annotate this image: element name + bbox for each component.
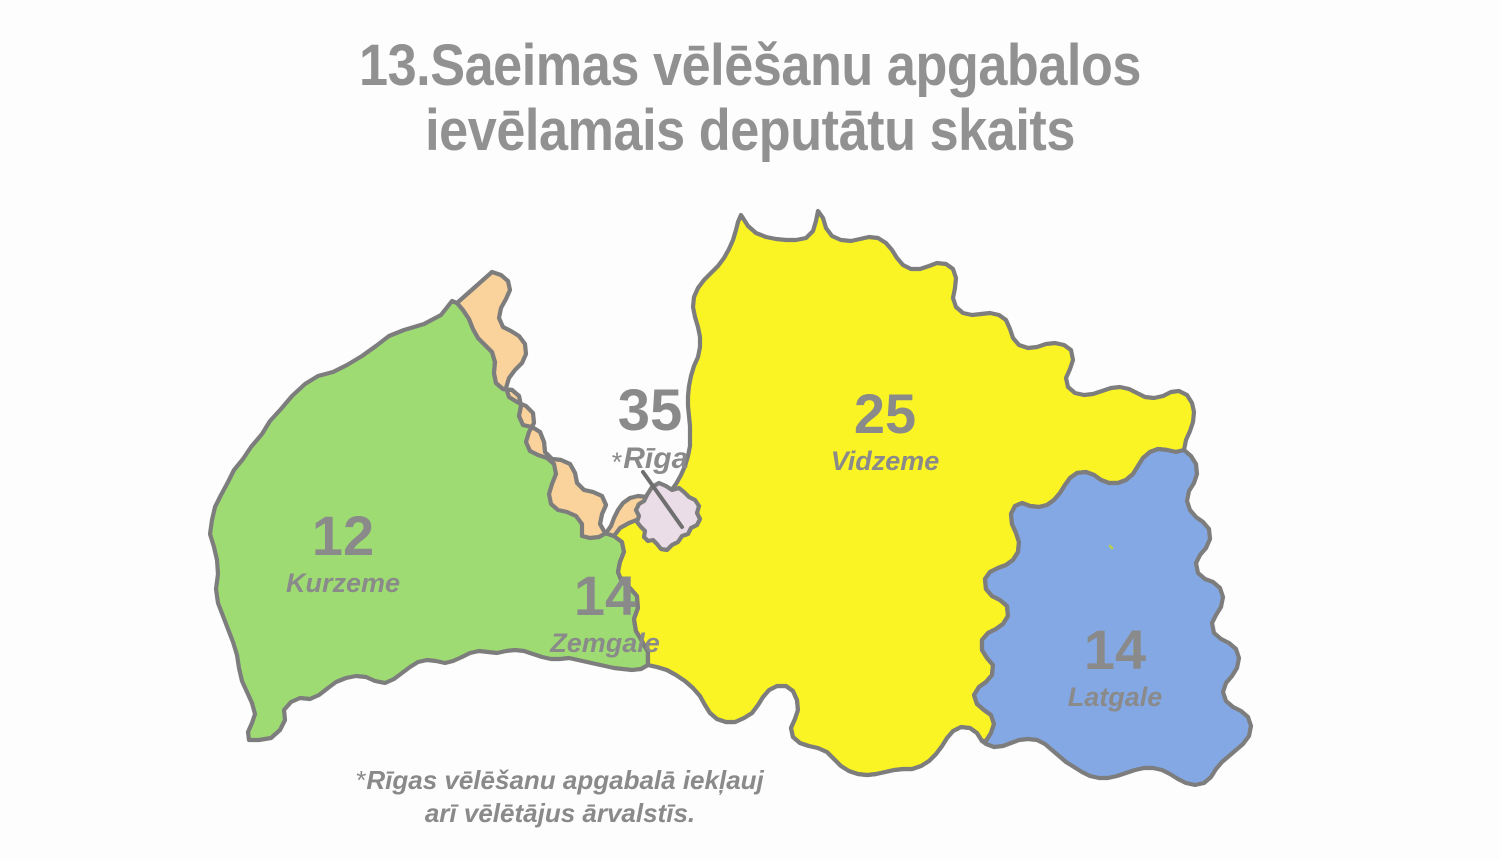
latvia-map-container: 35 Rīga 25 Vidzeme 12 Kurzeme 14 Zemgale… bbox=[0, 0, 1500, 860]
map-label-latgale: 14 Latgale bbox=[1000, 622, 1230, 711]
footnote: Rīgas vēlēšanu apgabalā iekļauj arī vēlē… bbox=[250, 764, 870, 829]
map-label-kurzeme: 12 Kurzeme bbox=[238, 508, 448, 597]
map-label-zemgale: 14 Zemgale bbox=[480, 568, 730, 657]
latgale-small-mark bbox=[1110, 546, 1112, 548]
vidzeme-region-name: Vidzeme bbox=[760, 448, 1010, 475]
riga-region-name: Rīga bbox=[540, 444, 760, 474]
footnote-line-2: arī vēlētājus ārvalstīs. bbox=[250, 797, 870, 830]
slide-root: 13.Saeimas vēlēšanu apgabalos ievēlamais… bbox=[0, 0, 1500, 860]
map-label-riga: 35 Rīga bbox=[540, 382, 760, 474]
zemgale-region-name: Zemgale bbox=[480, 630, 730, 657]
footnote-line-1: Rīgas vēlēšanu apgabalā iekļauj bbox=[250, 764, 870, 797]
riga-deputy-count: 35 bbox=[540, 382, 760, 440]
latgale-region-name: Latgale bbox=[1000, 684, 1230, 711]
vidzeme-deputy-count: 25 bbox=[760, 386, 1010, 442]
latgale-deputy-count: 14 bbox=[1000, 622, 1230, 678]
kurzeme-region-name: Kurzeme bbox=[238, 570, 448, 597]
kurzeme-deputy-count: 12 bbox=[238, 508, 448, 564]
map-label-vidzeme: 25 Vidzeme bbox=[760, 386, 1010, 475]
zemgale-deputy-count: 14 bbox=[480, 568, 730, 624]
